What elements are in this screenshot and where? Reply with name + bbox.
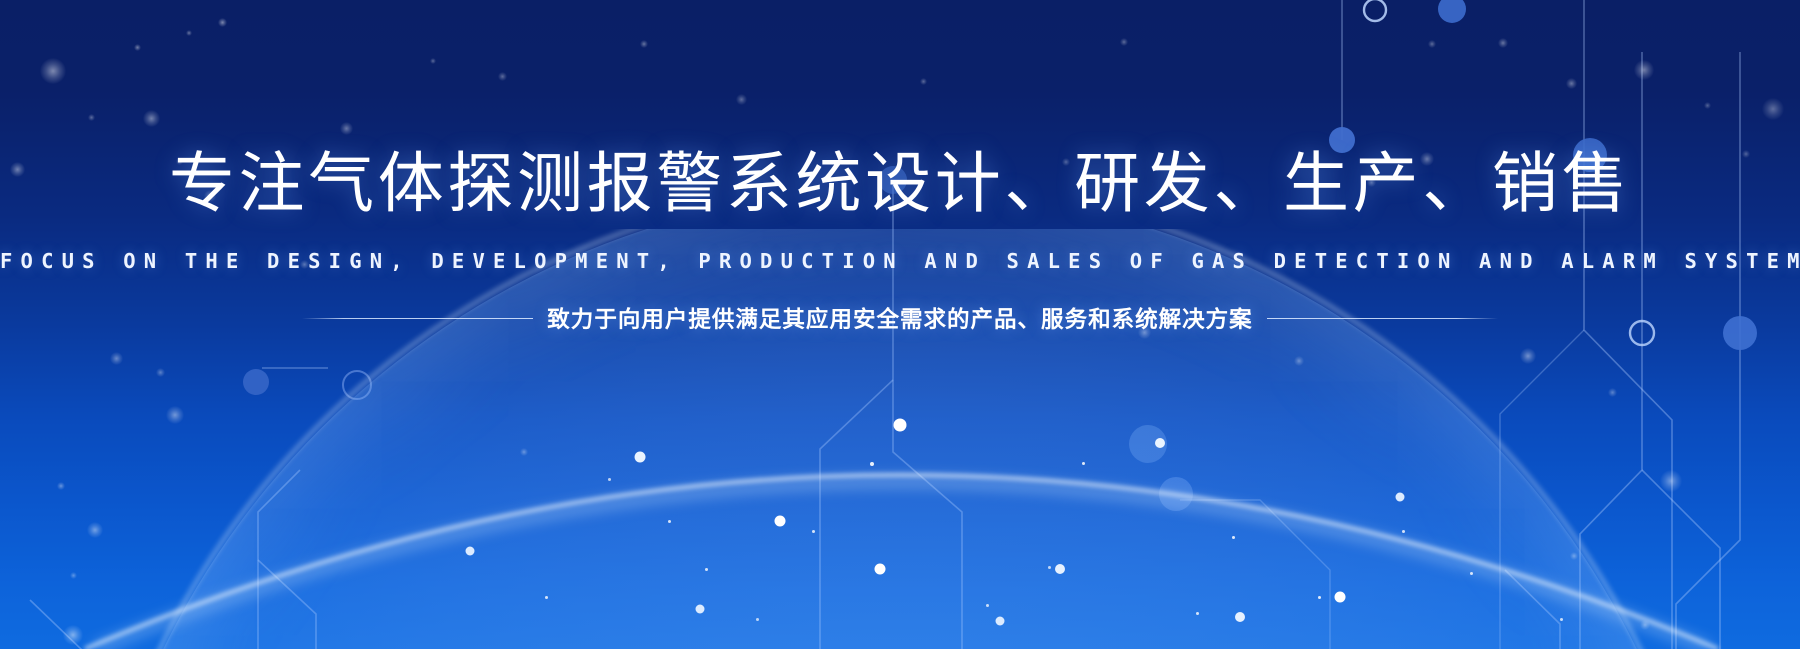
globe-node-group — [466, 419, 1405, 649]
page-title: 专注气体探测报警系统设计、研发、生产、销售 — [0, 150, 1800, 216]
circuit-node-filled — [1129, 425, 1167, 463]
circuit-node-filled — [1438, 0, 1466, 23]
tagline-row: 致力于向用户提供满足其应用安全需求的产品、服务和系统解决方案 — [0, 302, 1800, 334]
tagline-text: 致力于向用户提供满足其应用安全需求的产品、服务和系统解决方案 — [533, 302, 1266, 334]
circuit-node-filled — [1159, 477, 1193, 511]
page-subtitle-english: FOCUS ON THE DESIGN, DEVELOPMENT, PRODUC… — [0, 249, 1800, 273]
circuit-node-ring — [1364, 0, 1386, 21]
circuit-node-ring — [343, 371, 371, 399]
divider-rule-right — [1267, 318, 1498, 319]
circuit-node-filled — [243, 369, 269, 395]
hero-banner: 专注气体探测报警系统设计、研发、生产、销售 FOCUS ON THE DESIG… — [0, 0, 1800, 649]
hero-text-block: 专注气体探测报警系统设计、研发、生产、销售 FOCUS ON THE DESIG… — [0, 150, 1800, 334]
divider-rule-left — [302, 318, 533, 319]
